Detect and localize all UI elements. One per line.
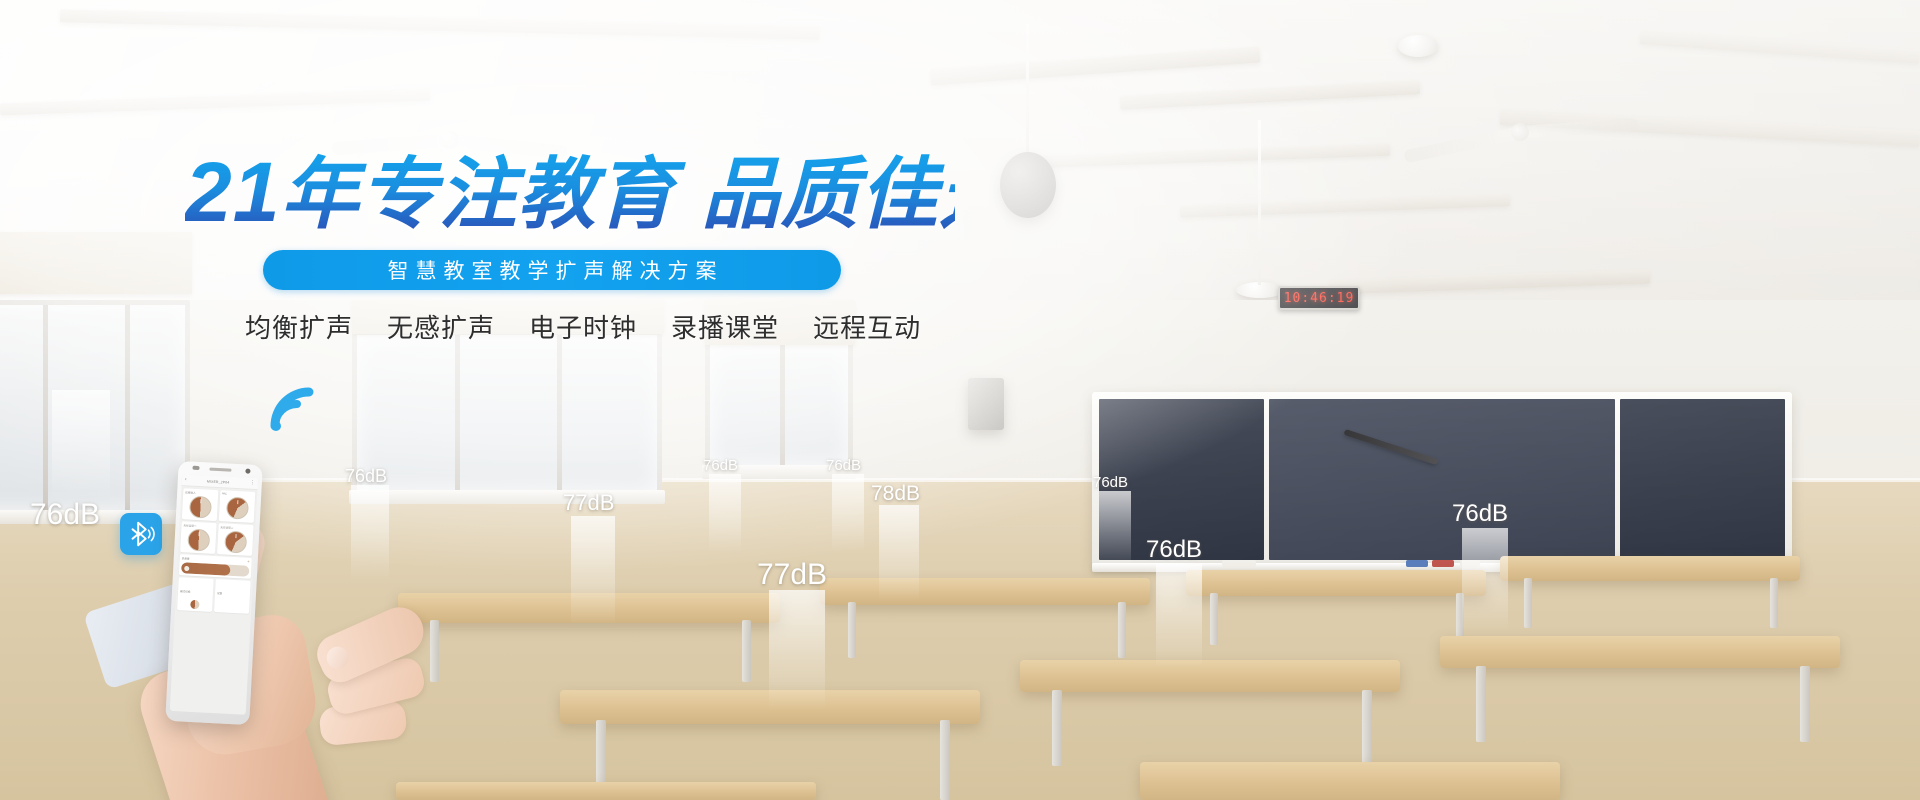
knob-card[interactable]: 线路输入 [182,488,219,521]
wifi-signal-icon [265,382,321,439]
student-desk [1186,570,1486,596]
db-label: 77dB [757,560,827,590]
master-volume-label: 总音量 [182,556,190,560]
db-label: 76dB [30,500,100,530]
db-marker: 76dB [30,500,100,530]
knob-card-row: 无线话筒一 无线话筒二 [180,521,254,556]
headline-block: 21年专注教育品质佳选 智慧教室教学扩声解决方案 均衡扩声 无感扩声 电子时钟 … [185,150,955,345]
mode-card[interactable]: 模式切换 [177,577,214,612]
chevron-left-icon[interactable]: ‹ [185,477,187,482]
student-desk [1140,762,1560,800]
mode-knob[interactable] [190,600,199,609]
student-desk [1440,636,1840,668]
ceiling-fan [1400,112,1640,152]
bottom-card-row: 模式切换 设置 [177,577,251,614]
desk-leg [848,602,856,658]
db-beam [1462,528,1508,632]
desk-leg [1052,690,1062,766]
knob-card-label: 无线话筒二 [220,525,233,530]
smartphone[interactable]: ‹ MIXER_2P04 ⋮ 线路输入 MIC [165,461,262,725]
student-desk [1500,556,1800,581]
db-beam [832,474,864,552]
db-marker: 76dB [1093,475,1128,490]
clock-time: 10:46:19 [1284,291,1355,306]
fingernail [323,643,352,672]
volume-knob[interactable] [226,497,249,520]
page-title: 21年专注教育品质佳选 [185,150,955,234]
more-vertical-icon[interactable]: ⋮ [250,481,255,486]
plus-icon[interactable]: + [247,560,250,564]
desk-leg [1476,666,1486,742]
board-panel-center [1269,399,1615,560]
pendant-rod [1026,24,1029,154]
settings-card[interactable]: 设置 [214,579,251,614]
banner-stage: 10:46:19 76dB [0,0,1920,800]
volume-knob[interactable] [187,529,210,552]
student-desk [1020,660,1400,692]
feature-list: 均衡扩声 无感扩声 电子时钟 录播课堂 远程互动 [245,308,955,345]
wall-speaker [968,378,1004,430]
db-marker: 76dB [1146,538,1202,562]
ceiling-microphone [1398,35,1438,57]
db-beam [52,390,110,500]
phone-sensor [192,466,199,470]
db-label: 76dB [1452,502,1508,526]
desk-leg [1770,578,1778,628]
feature-item: 无感扩声 [387,308,495,345]
knob-card-label: MIC [222,492,227,495]
window-blind [0,232,192,294]
digital-clock: 10:46:19 [1278,286,1360,310]
db-beam [879,505,919,601]
app-title: MIXER_2P04 [207,479,230,484]
board-panel-right [1620,399,1785,560]
volume-knob[interactable] [189,496,212,519]
desk-leg [1118,602,1126,658]
phone-screen[interactable]: ‹ MIXER_2P04 ⋮ 线路输入 MIC [170,474,258,715]
db-beam [1099,491,1131,571]
desk-leg [940,720,950,800]
db-marker: 76dB [1452,502,1508,526]
db-label: 78dB [871,483,920,504]
desk-leg [742,620,751,682]
feature-item: 均衡扩声 [245,308,353,345]
chalk-piece [1406,560,1428,567]
master-volume-card[interactable]: 总音量 + [179,554,252,579]
subtitle-text: 智慧教室教学扩声解决方案 [381,255,724,285]
classroom-window [705,340,853,470]
db-label: 76dB [1146,538,1202,562]
knob-card[interactable]: 无线话筒一 [180,521,217,554]
db-beam [769,590,825,710]
db-label: 76dB [1093,475,1128,490]
hand-holding-phone: ‹ MIXER_2P04 ⋮ 线路输入 MIC [120,470,540,800]
knob-card[interactable]: 无线话筒二 [217,523,254,556]
knob-card-label: 线路输入 [185,490,196,495]
db-label: 77dB [563,492,614,514]
chalk-piece [1432,560,1454,567]
desk-leg [1210,593,1218,645]
pendant-rod [1258,120,1261,285]
desk-leg [1800,666,1810,742]
feature-item: 录播课堂 [671,308,779,345]
desk-leg [1362,690,1372,766]
knob-card-row: 线路输入 MIC [182,488,256,523]
db-marker: 76dB [826,458,861,473]
headline-main: 年专注教育 [280,150,675,238]
db-beam [571,516,615,626]
feature-item: 电子时钟 [529,308,637,345]
subtitle-pill: 智慧教室教学扩声解决方案 [263,250,841,290]
db-marker: 77dB [563,492,614,514]
volume-knob[interactable] [224,531,247,554]
db-marker: 76dB [703,458,738,473]
phone-earpiece [209,468,231,472]
bottom-card-label: 模式切换 [180,590,191,594]
headline-second: 品质佳选 [701,150,1017,238]
knob-card[interactable]: MIC [219,490,256,523]
chalk-piece [1222,560,1256,567]
knob-card-label: 无线话筒一 [183,523,196,528]
db-label: 76dB [703,458,738,473]
bottom-card-label: 设置 [217,592,222,595]
db-beam [709,474,741,552]
feature-item: 远程互动 [813,308,921,345]
db-beam [1156,564,1202,668]
app-body: 线路输入 MIC 无线话筒一 [170,486,258,715]
db-label: 76dB [826,458,861,473]
db-marker: 77dB [757,560,827,590]
student-desk [820,578,1150,605]
master-volume-slider[interactable] [181,562,249,577]
db-marker: 78dB [871,483,920,504]
headline-number: 21 [185,145,280,239]
desk-leg [1524,578,1532,628]
phone-front-camera [245,468,250,473]
